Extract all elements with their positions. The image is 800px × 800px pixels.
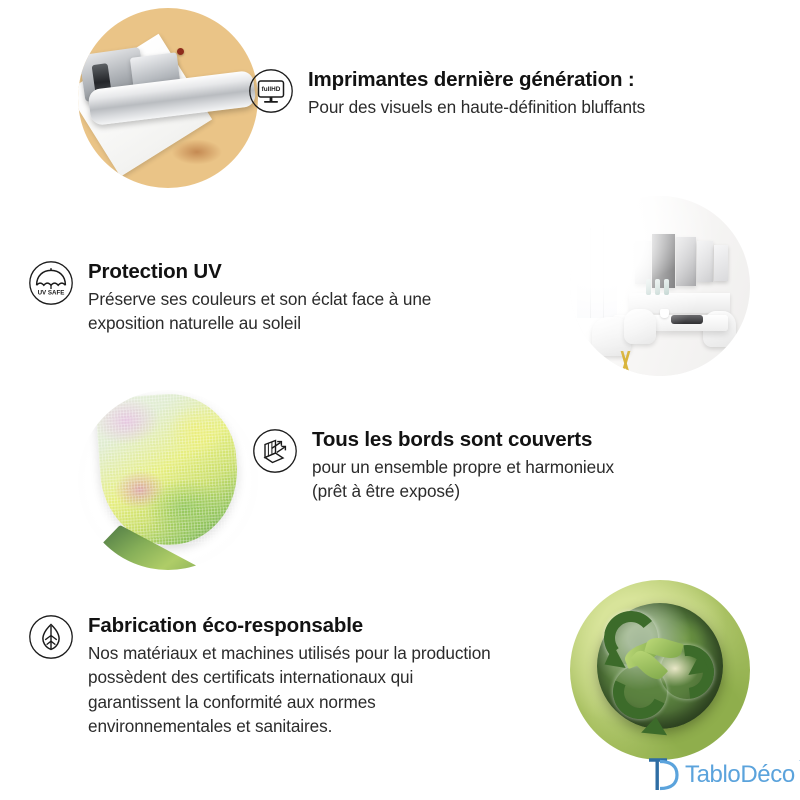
green-globe-recycling-photo <box>570 580 750 760</box>
canvas-corner-wrapped-edge-photo <box>78 390 258 570</box>
tablodeco-monogram-icon <box>646 757 680 793</box>
feature-body-line: Nos matériaux et machines utilisés pour … <box>88 641 491 665</box>
feature-body-line: environnementales et sanitaires. <box>88 714 491 738</box>
fullhd-monitor-icon: fullHD <box>248 68 294 114</box>
feature-body: Préserve ses couleurs et son éclat face … <box>88 287 431 336</box>
feature-body: pour un ensemble propre et harmonieux (p… <box>312 455 614 504</box>
indicator-dot <box>177 48 184 55</box>
feature-body-line: (prêt à être exposé) <box>312 479 614 503</box>
uv-safe-label: UV SAFE <box>38 290 65 297</box>
feature-body-line: exposition naturelle au soleil <box>88 311 431 335</box>
canvas-weave-texture <box>94 390 241 549</box>
feature-title: Imprimantes dernière génération : <box>308 67 645 92</box>
logo-wordmark: TabloDéco ™ <box>685 761 795 789</box>
feature-text: Tous les bords sont couverts pour un ens… <box>312 426 614 504</box>
feature-title: Tous les bords sont couverts <box>312 427 614 452</box>
feature-body: Nos matériaux et machines utilisés pour … <box>88 641 491 739</box>
logo-wordmark-text: TabloDéco <box>685 761 795 788</box>
feature-row-covered-edges: Tous les bords sont couverts pour un ens… <box>252 426 692 504</box>
feature-title: Fabrication éco-responsable <box>88 613 491 638</box>
uv-safe-umbrella-icon: UV SAFE <box>28 260 74 306</box>
wrapped-edges-icon <box>252 428 298 474</box>
feature-row-eco-manufacturing: Fabrication éco-responsable Nos matériau… <box>28 612 588 739</box>
canvas-face <box>94 390 241 549</box>
recycle-arrow-tip <box>641 715 669 735</box>
eco-leaf-icon <box>28 614 74 660</box>
feature-row-uv-protection: UV SAFE Protection UV Préserve ses coule… <box>28 258 528 336</box>
feature-text: Protection UV Préserve ses couleurs et s… <box>88 258 431 336</box>
feature-body-line: Préserve ses couleurs et son éclat face … <box>88 287 431 311</box>
feature-body-line: Pour des visuels en haute-définition blu… <box>308 95 645 119</box>
feature-title: Protection UV <box>88 259 431 284</box>
printer-head-world-map-photo <box>78 8 258 188</box>
feature-body-line: pour un ensemble propre et harmonieux <box>312 455 614 479</box>
feature-body: Pour des visuels en haute-définition blu… <box>308 95 645 119</box>
sunlight-glare <box>570 196 750 376</box>
bright-dining-room-wall-art-photo <box>570 196 750 376</box>
brand-logo[interactable]: TabloDéco ™ .fr <box>646 757 800 793</box>
infographic-canvas: fullHD Imprimantes dernière génération :… <box>0 0 800 800</box>
feature-text: Imprimantes dernière génération : Pour d… <box>308 66 645 119</box>
feature-body-line: garantissent la conformité aux normes <box>88 690 491 714</box>
feature-body-line: possèdent des certificats internationaux… <box>88 665 491 689</box>
fullhd-label: fullHD <box>262 86 281 93</box>
feature-text: Fabrication éco-responsable Nos matériau… <box>88 612 491 739</box>
feature-row-printers: fullHD Imprimantes dernière génération :… <box>248 66 718 119</box>
